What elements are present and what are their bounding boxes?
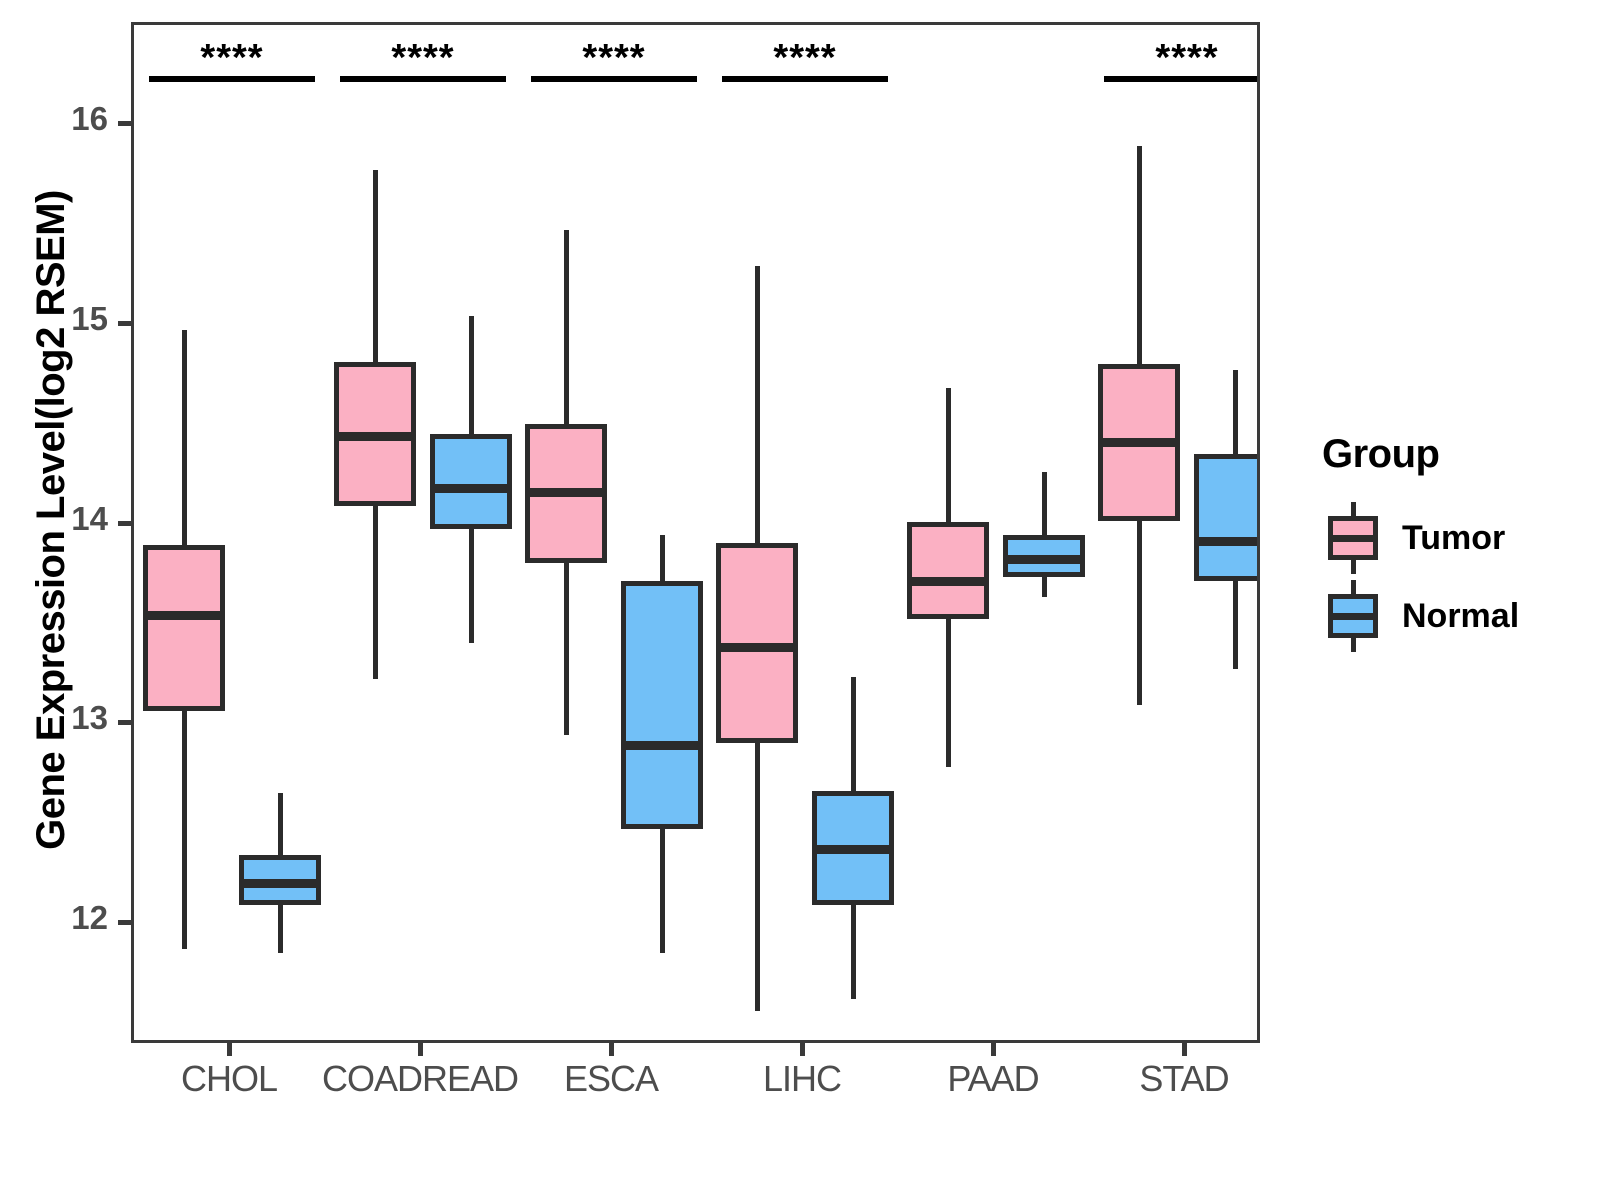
median-line xyxy=(1003,555,1085,564)
y-tick-mark xyxy=(118,720,131,725)
legend-key-icon xyxy=(1322,580,1384,652)
median-line xyxy=(621,741,703,750)
legend-title: Group xyxy=(1322,432,1582,477)
legend-key-icon xyxy=(1322,502,1384,574)
box-rect xyxy=(621,581,703,829)
legend-label: Tumor xyxy=(1402,519,1505,558)
x-tick-label-esca: ESCA xyxy=(564,1058,658,1100)
legend: Group TumorNormal xyxy=(1322,432,1582,655)
legend-whisker-bottom xyxy=(1351,636,1356,652)
y-tick-mark xyxy=(118,521,131,526)
box-rect xyxy=(1194,454,1260,582)
significance-stars: **** xyxy=(200,39,263,77)
y-tick-mark xyxy=(118,121,131,126)
y-tick-label: 15 xyxy=(0,300,108,338)
legend-items: TumorNormal xyxy=(1322,499,1582,655)
x-tick-mark xyxy=(227,1043,232,1056)
legend-whisker-bottom xyxy=(1351,558,1356,574)
median-line xyxy=(334,432,416,441)
box-rect xyxy=(907,522,989,620)
y-tick-label: 14 xyxy=(0,500,108,538)
x-tick-label-paad: PAAD xyxy=(947,1058,1038,1100)
x-tick-mark xyxy=(609,1043,614,1056)
box-rect xyxy=(430,434,512,530)
x-tick-label-lihc: LIHC xyxy=(763,1058,841,1100)
x-tick-mark xyxy=(418,1043,423,1056)
x-tick-mark xyxy=(991,1043,996,1056)
whisker-line xyxy=(1042,472,1047,598)
y-tick-mark xyxy=(118,920,131,925)
legend-label: Normal xyxy=(1402,597,1519,636)
median-line xyxy=(239,879,321,888)
median-line xyxy=(525,488,607,497)
significance-stars: **** xyxy=(582,39,645,77)
plot-panel: ******************** xyxy=(131,22,1260,1043)
legend-median-line xyxy=(1328,535,1378,542)
median-line xyxy=(812,845,894,854)
significance-stars: **** xyxy=(1155,39,1218,77)
x-tick-label-coadread: COADREAD xyxy=(322,1058,518,1100)
significance-stars: **** xyxy=(773,39,836,77)
y-tick-mark xyxy=(118,321,131,326)
legend-median-line xyxy=(1328,613,1378,620)
significance-stars: **** xyxy=(391,39,454,77)
legend-item-normal[interactable]: Normal xyxy=(1322,577,1582,655)
y-tick-label: 13 xyxy=(0,699,108,737)
y-tick-label: 16 xyxy=(0,100,108,138)
median-line xyxy=(143,611,225,620)
median-line xyxy=(1098,438,1180,447)
x-tick-mark xyxy=(1182,1043,1187,1056)
chart-root: Gene Expression Level(log2 RSEM) 1213141… xyxy=(0,0,1600,1200)
x-tick-label-chol: CHOL xyxy=(181,1058,277,1100)
box-rect xyxy=(143,545,225,711)
median-line xyxy=(716,643,798,652)
median-line xyxy=(430,484,512,493)
x-tick-label-stad: STAD xyxy=(1139,1058,1228,1100)
median-line xyxy=(907,577,989,586)
y-tick-label: 12 xyxy=(0,899,108,937)
legend-item-tumor[interactable]: Tumor xyxy=(1322,499,1582,577)
median-line xyxy=(1194,537,1260,546)
x-tick-mark xyxy=(800,1043,805,1056)
